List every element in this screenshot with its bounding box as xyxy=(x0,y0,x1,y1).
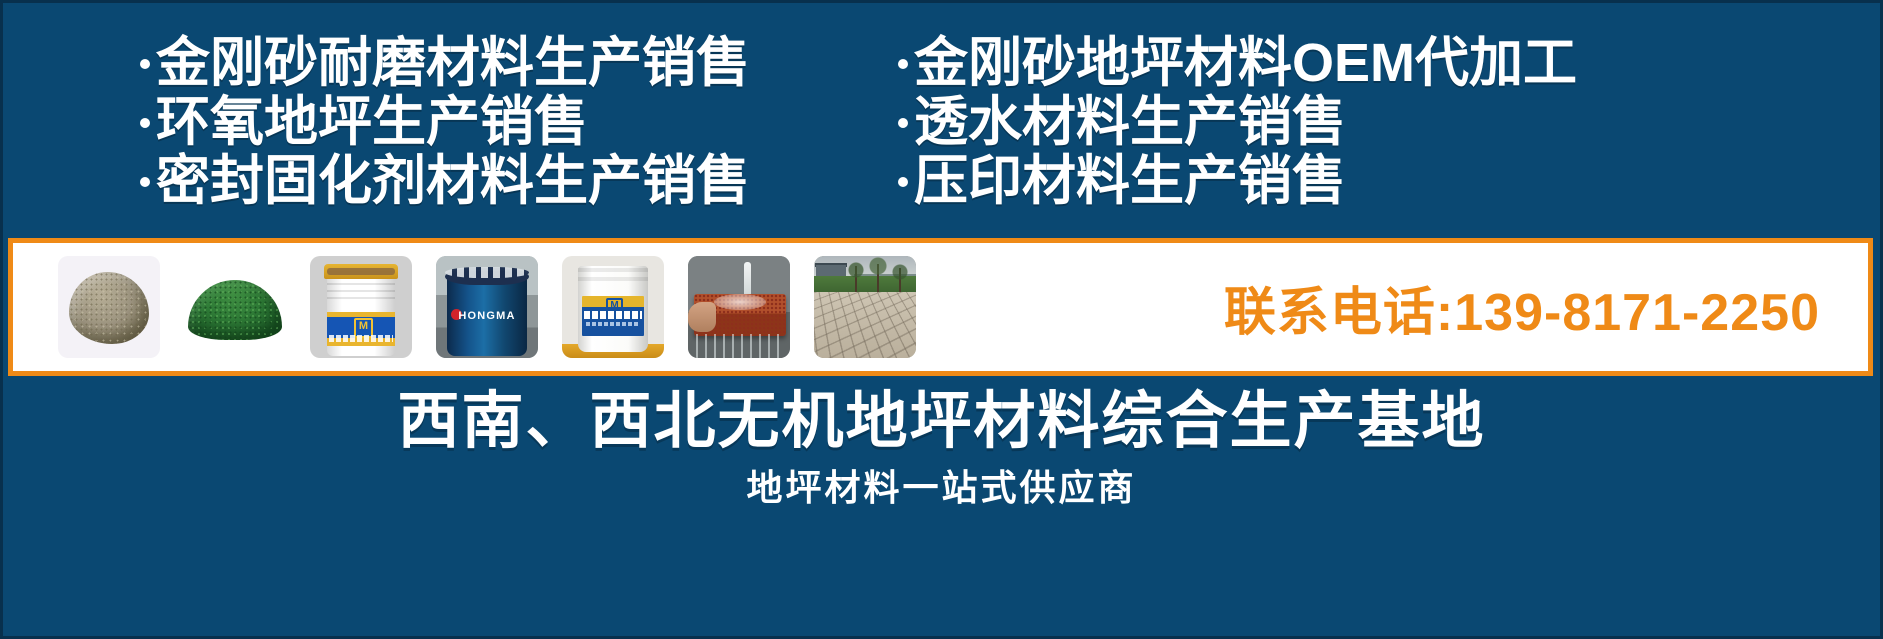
product-photo-green-abrasive-powder xyxy=(184,256,286,358)
powder-pile-shape xyxy=(69,272,149,344)
services-right-column: 金刚砂地坪材料OEM代加工 透水材料生产销售 压印材料生产销售 xyxy=(880,34,1883,230)
service-item-left-3: 密封固化剂材料生产销售 xyxy=(140,152,880,211)
services-left-column: 金刚砂耐磨材料生产销售 环氧地坪生产销售 密封固化剂材料生产销售 xyxy=(0,34,880,230)
water-drip-lines xyxy=(696,334,784,358)
service-item-right-3: 压印材料生产销售 xyxy=(898,152,1883,211)
powder-grain-texture xyxy=(188,280,282,340)
contact-phone[interactable]: 联系电话:139-8171-2250 xyxy=(1224,270,1868,345)
product-photo-list: M HONGMA M xyxy=(13,256,916,358)
water-stream-shape xyxy=(744,262,751,298)
pail-label-text-lines xyxy=(329,335,393,342)
pail-lid-rim xyxy=(327,268,395,275)
product-photo-epoxy-floor-coating-pail: M xyxy=(562,256,664,358)
pail-rib xyxy=(327,283,395,285)
services-section: 金刚砂耐磨材料生产销售 环氧地坪生产销售 密封固化剂材料生产销售 金刚砂地坪材料… xyxy=(0,34,1883,230)
bullet-dot-icon xyxy=(140,177,150,187)
service-label: 压印材料生产销售 xyxy=(914,152,1346,211)
bullet-dot-icon xyxy=(140,118,150,128)
bullet-dot-icon xyxy=(898,118,908,128)
pail-rib xyxy=(327,290,395,292)
hand-shape xyxy=(688,302,716,332)
product-photo-stamped-concrete-walkway xyxy=(814,256,916,358)
product-photo-grey-abrasive-powder xyxy=(58,256,160,358)
service-label: 环氧地坪生产销售 xyxy=(156,93,588,152)
footer-subheadline: 地坪材料一站式供应商 xyxy=(0,466,1883,510)
product-photo-permeable-concrete-sample xyxy=(688,256,790,358)
service-label: 金刚砂地坪材料OEM代加工 xyxy=(914,34,1577,93)
service-item-left-1: 金刚砂耐磨材料生产销售 xyxy=(140,34,880,93)
pail-rib xyxy=(327,297,395,299)
pail-rib xyxy=(578,268,648,272)
product-photo-strip: M HONGMA M xyxy=(8,238,1873,376)
pail-label-text-lines xyxy=(584,311,642,319)
service-label: 金刚砂耐磨材料生产销售 xyxy=(156,34,750,93)
service-label: 密封固化剂材料生产销售 xyxy=(156,152,750,211)
service-item-right-2: 透水材料生产销售 xyxy=(898,93,1883,152)
product-photo-hongma-drum: HONGMA xyxy=(436,256,538,358)
powder-grain-texture xyxy=(69,272,149,344)
footer-headline: 西南、西北无机地坪材料综合生产基地 xyxy=(0,386,1883,458)
pail-rib xyxy=(578,277,648,281)
service-item-left-2: 环氧地坪生产销售 xyxy=(140,93,880,152)
bullet-dot-icon xyxy=(898,59,908,69)
product-photo-concrete-sealer-pail: M xyxy=(310,256,412,358)
drum-clamp-ring xyxy=(445,267,529,278)
bullet-dot-icon xyxy=(898,177,908,187)
water-pool-shape xyxy=(714,294,766,310)
drum-brand-text: HONGMA xyxy=(450,310,524,322)
stamped-path-shape xyxy=(814,292,916,358)
service-label: 透水材料生产销售 xyxy=(914,93,1346,152)
powder-pile-shape xyxy=(188,280,282,340)
advertisement-banner: 金刚砂耐磨材料生产销售 环氧地坪生产销售 密封固化剂材料生产销售 金刚砂地坪材料… xyxy=(0,0,1883,639)
pail-label-subtext-lines xyxy=(586,322,640,326)
bullet-dot-icon xyxy=(140,59,150,69)
service-item-right-1: 金刚砂地坪材料OEM代加工 xyxy=(898,34,1883,93)
